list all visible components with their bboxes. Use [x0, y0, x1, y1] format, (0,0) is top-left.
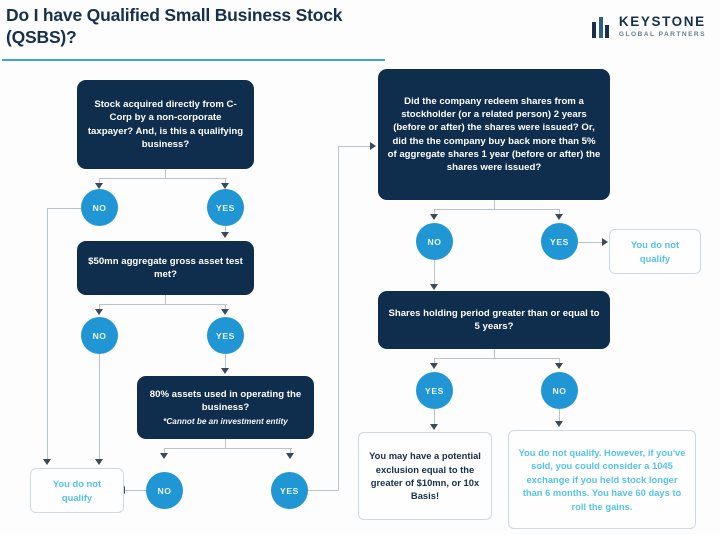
connector [434, 409, 435, 425]
decision-label: YES [550, 237, 569, 247]
arrow-icon [602, 238, 608, 246]
decision-label: NO [427, 237, 441, 247]
connector [99, 354, 100, 460]
connector [225, 354, 226, 369]
connector [99, 178, 227, 179]
arrow-icon [221, 309, 229, 315]
decision-label: YES [280, 486, 299, 496]
decision-circle-q1-no[interactable]: NO [81, 189, 118, 226]
arrow-icon [221, 368, 229, 374]
arrow-icon [286, 453, 294, 459]
question-text: $50mn aggregate gross asset test met? [86, 255, 245, 281]
decision-label: NO [92, 203, 106, 213]
arrow-icon [555, 214, 563, 220]
decision-circle-q2-yes[interactable]: YES [207, 317, 244, 354]
connector [124, 490, 146, 491]
decision-circle-q5-no[interactable]: NO [541, 372, 578, 409]
connector [99, 304, 227, 305]
arrow-icon [430, 424, 438, 430]
outcome-text: You do not qualify [38, 477, 116, 504]
outcome-text: You do not qualify [617, 238, 693, 265]
arrow-icon [430, 284, 438, 290]
decision-label: NO [552, 386, 566, 396]
connector [434, 259, 435, 285]
arrow-icon [160, 453, 168, 459]
header-divider [2, 59, 385, 61]
logo-subtitle: GLOBAL PARTNERS [619, 32, 706, 39]
outcome-box-left-not-qualify: You do not qualify [30, 468, 124, 513]
outcome-box-right-not-qualify: You do not qualify [609, 229, 701, 274]
connector [47, 208, 82, 209]
connector [434, 209, 560, 210]
decision-circle-q4-no[interactable]: NO [416, 223, 453, 260]
decision-label: YES [216, 331, 235, 341]
arrow-icon [430, 214, 438, 220]
decision-label: YES [425, 386, 444, 396]
three-vertical-bars-icon [592, 17, 612, 38]
flowchart-canvas: Do I have Qualified Small Business Stock… [0, 0, 720, 535]
decision-circle-q5-yes[interactable]: YES [416, 372, 453, 409]
connector [308, 490, 339, 491]
connector [47, 208, 48, 460]
arrow-icon [95, 309, 103, 315]
arrow-icon [95, 459, 103, 465]
decision-circle-q4-yes[interactable]: YES [541, 223, 578, 260]
question-box-holding-period: Shares holding period greater than or eq… [378, 291, 610, 349]
question-box-80-percent-assets: 80% assets used in operating the busines… [137, 376, 314, 439]
connector [578, 242, 603, 243]
decision-circle-q2-no[interactable]: NO [81, 317, 118, 354]
outcome-box-1045-exchange: You do not qualify. However, if you've s… [508, 430, 696, 529]
decision-circle-q1-yes[interactable]: YES [207, 189, 244, 226]
question-box-asset-test: $50mn aggregate gross asset test met? [77, 241, 254, 295]
arrow-icon [430, 363, 438, 369]
question-box-stock-acquired: Stock acquired directly from C-Corp by a… [77, 80, 254, 169]
arrow-icon [555, 363, 563, 369]
page-title: Do I have Qualified Small Business Stock… [6, 4, 396, 49]
decision-label: YES [216, 203, 235, 213]
arrow-icon [221, 232, 229, 238]
question-text: Did the company redeem shares from a sto… [387, 95, 601, 174]
question-text: 80% assets used in operating the busines… [146, 388, 305, 414]
connector [338, 146, 339, 491]
question-note: *Cannot be an investment entity [163, 416, 288, 427]
connector [164, 448, 292, 449]
connector [434, 358, 560, 359]
question-text: Shares holding period greater than or eq… [387, 307, 601, 333]
outcome-text: You do not qualify. However, if you've s… [516, 446, 688, 513]
outcome-text: You may have a potential exclusion equal… [366, 449, 484, 502]
decision-circle-q3-yes[interactable]: YES [271, 472, 308, 509]
decision-label: NO [92, 331, 106, 341]
question-box-redemption: Did the company redeem shares from a sto… [378, 69, 610, 200]
outcome-box-potential-exclusion: You may have a potential exclusion equal… [358, 432, 492, 520]
arrow-icon [43, 459, 51, 465]
logo-name: KEYSTONE [619, 15, 706, 29]
decision-circle-q3-no[interactable]: NO [146, 472, 183, 509]
question-text: Stock acquired directly from C-Corp by a… [86, 98, 245, 151]
arrow-icon [370, 142, 376, 150]
brand-logo: KEYSTONE GLOBAL PARTNERS [592, 12, 706, 42]
decision-label: NO [157, 486, 171, 496]
connector [338, 146, 371, 147]
arrow-icon [555, 421, 563, 427]
